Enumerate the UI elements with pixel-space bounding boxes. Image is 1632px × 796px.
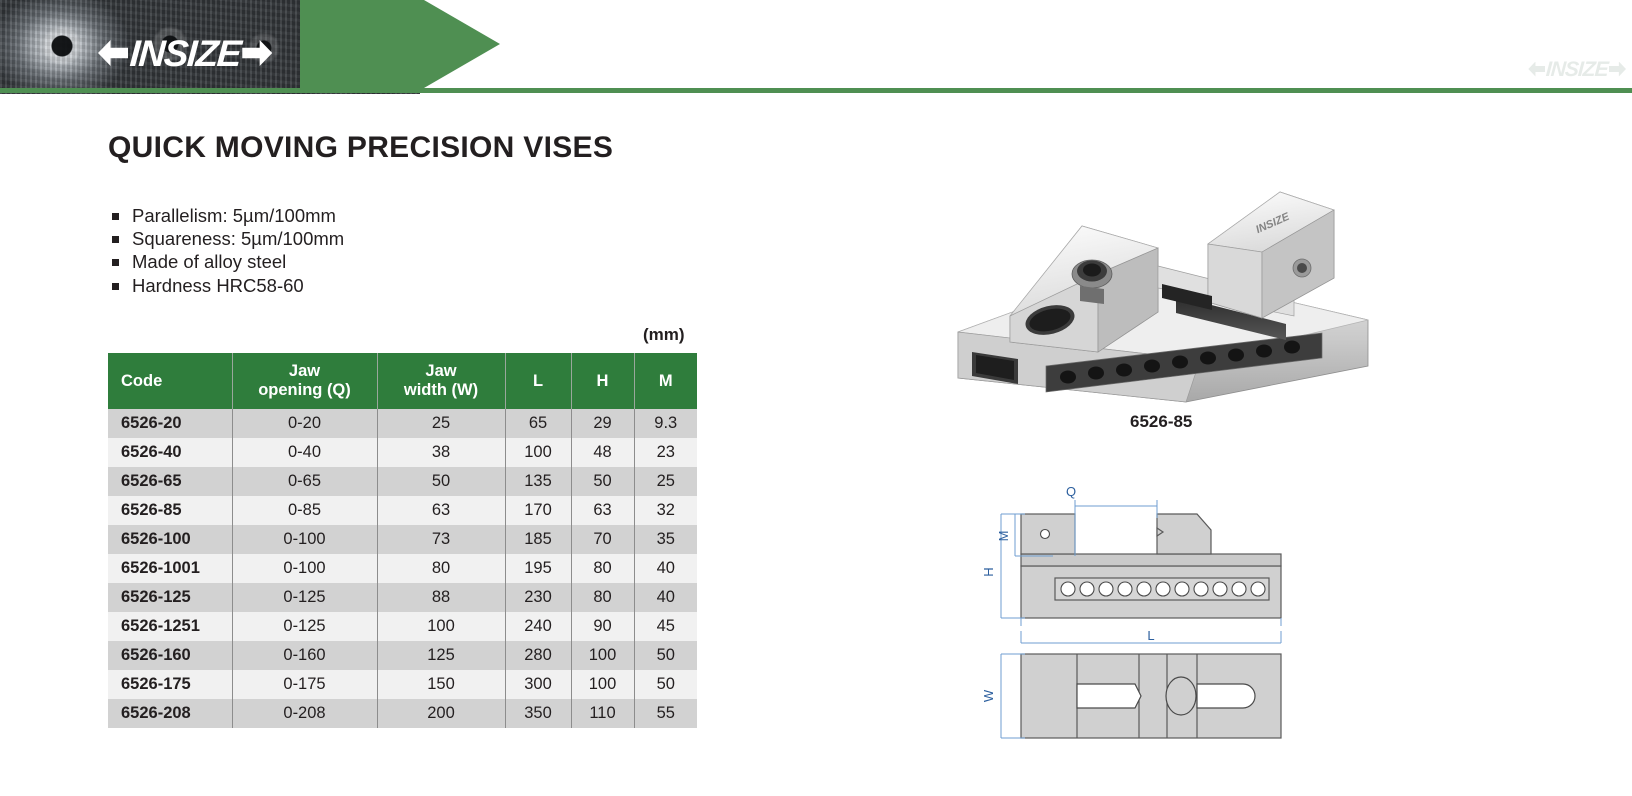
table-row: 6526-12510-1251002409045: [108, 612, 697, 641]
arrow-left-icon: [1528, 62, 1545, 77]
cell-l: 240: [505, 612, 571, 641]
column-header-jaw-width: Jaw width (W): [377, 353, 505, 409]
cell-h: 90: [571, 612, 634, 641]
feature-text: Squareness: 5µm/100mm: [132, 228, 344, 249]
cell-h: 110: [571, 699, 634, 728]
cell-h: 80: [571, 554, 634, 583]
cell-jaw-width: 63: [377, 496, 505, 525]
cell-jaw-opening: 0-100: [232, 525, 377, 554]
cell-h: 29: [571, 409, 634, 438]
bullet-square-icon: [112, 213, 119, 220]
insize-watermark-text: INSIZE: [1546, 59, 1609, 80]
cell-h: 100: [571, 641, 634, 670]
specification-table: Code Jaw opening (Q) Jaw width (W) L H M: [108, 353, 697, 728]
cell-m: 23: [634, 438, 697, 467]
cell-l: 135: [505, 467, 571, 496]
bullet-square-icon: [112, 283, 119, 290]
table-row: 6526-10010-100801958040: [108, 554, 697, 583]
arrow-right-icon: [1609, 62, 1626, 77]
cell-code: 6526-175: [108, 670, 232, 699]
cell-jaw-width: 88: [377, 583, 505, 612]
arrow-left-icon: [98, 40, 128, 66]
table-row: 6526-400-40381004823: [108, 438, 697, 467]
table-row: 6526-1000-100731857035: [108, 525, 697, 554]
header-green-chevron: [300, 0, 500, 88]
cell-m: 25: [634, 467, 697, 496]
cell-code: 6526-40: [108, 438, 232, 467]
cell-h: 50: [571, 467, 634, 496]
cell-jaw-width: 38: [377, 438, 505, 467]
list-item: Parallelism: 5µm/100mm: [110, 204, 344, 227]
cell-l: 100: [505, 438, 571, 467]
cell-l: 350: [505, 699, 571, 728]
column-header-jaw-opening: Jaw opening (Q): [232, 353, 377, 409]
dimension-label-m: M: [996, 531, 1011, 542]
cell-jaw-opening: 0-40: [232, 438, 377, 467]
cell-code: 6526-85: [108, 496, 232, 525]
list-item: Made of alloy steel: [110, 250, 344, 273]
column-header-code: Code: [108, 353, 232, 409]
page-title: QUICK MOVING PRECISION VISES: [108, 131, 613, 165]
dimension-label-w: W: [981, 689, 996, 702]
feature-list: Parallelism: 5µm/100mm Squareness: 5µm/1…: [110, 204, 344, 297]
cell-jaw-width: 80: [377, 554, 505, 583]
cell-code: 6526-208: [108, 699, 232, 728]
cell-m: 32: [634, 496, 697, 525]
dimension-label-q: Q: [1066, 484, 1076, 499]
cell-jaw-opening: 0-160: [232, 641, 377, 670]
bullet-square-icon: [112, 236, 119, 243]
column-header-l: L: [505, 353, 571, 409]
cell-code: 6526-1251: [108, 612, 232, 641]
table-body: 6526-200-202565299.36526-400-40381004823…: [108, 409, 697, 728]
cell-jaw-width: 25: [377, 409, 505, 438]
cell-h: 48: [571, 438, 634, 467]
cell-l: 280: [505, 641, 571, 670]
page-header: INSIZE INSIZE: [0, 0, 1632, 94]
feature-text: Made of alloy steel: [132, 251, 286, 272]
cell-jaw-width: 50: [377, 467, 505, 496]
cell-m: 55: [634, 699, 697, 728]
cell-jaw-opening: 0-208: [232, 699, 377, 728]
table-row: 6526-650-65501355025: [108, 467, 697, 496]
dimension-label-h: H: [981, 567, 996, 576]
table-row: 6526-1750-17515030010050: [108, 670, 697, 699]
cell-h: 70: [571, 525, 634, 554]
cell-jaw-opening: 0-20: [232, 409, 377, 438]
cell-jaw-opening: 0-65: [232, 467, 377, 496]
cell-jaw-opening: 0-100: [232, 554, 377, 583]
list-item: Squareness: 5µm/100mm: [110, 227, 344, 250]
cell-m: 9.3: [634, 409, 697, 438]
header-divider-rule: [0, 88, 1632, 93]
column-header-h: H: [571, 353, 634, 409]
feature-text: Hardness HRC58-60: [132, 275, 304, 296]
cell-jaw-width: 125: [377, 641, 505, 670]
vise-side-view-drawing: Q H M L: [975, 478, 1295, 626]
vise-top-view-drawing: W: [975, 640, 1295, 748]
cell-h: 63: [571, 496, 634, 525]
cell-code: 6526-100: [108, 525, 232, 554]
column-header-m: M: [634, 353, 697, 409]
insize-logo: INSIZE: [98, 34, 272, 72]
table-row: 6526-1250-125882308040: [108, 583, 697, 612]
cell-l: 185: [505, 525, 571, 554]
table-row: 6526-850-85631706332: [108, 496, 697, 525]
catalog-page: INSIZE INSIZE QUICK MOVING PRECISION VIS…: [0, 0, 1632, 796]
arrow-right-icon: [242, 40, 272, 66]
cell-jaw-opening: 0-85: [232, 496, 377, 525]
cell-jaw-opening: 0-175: [232, 670, 377, 699]
table-row: 6526-2080-20820035011055: [108, 699, 697, 728]
precision-vise-photo: INSIZE: [950, 170, 1370, 405]
feature-text: Parallelism: 5µm/100mm: [132, 205, 336, 226]
units-label: (mm): [643, 325, 685, 345]
cell-l: 195: [505, 554, 571, 583]
cell-l: 300: [505, 670, 571, 699]
product-caption: 6526-85: [1130, 412, 1192, 432]
cell-jaw-width: 150: [377, 670, 505, 699]
insize-logo-text: INSIZE: [129, 35, 242, 72]
cell-jaw-width: 100: [377, 612, 505, 641]
cell-m: 40: [634, 583, 697, 612]
cell-jaw-opening: 0-125: [232, 583, 377, 612]
cell-code: 6526-1001: [108, 554, 232, 583]
cell-m: 50: [634, 670, 697, 699]
list-item: Hardness HRC58-60: [110, 274, 344, 297]
insize-logo-watermark: INSIZE: [1528, 56, 1626, 82]
cell-jaw-width: 200: [377, 699, 505, 728]
bullet-square-icon: [112, 259, 119, 266]
cell-m: 50: [634, 641, 697, 670]
cell-m: 35: [634, 525, 697, 554]
cell-l: 65: [505, 409, 571, 438]
table-row: 6526-1600-16012528010050: [108, 641, 697, 670]
cell-m: 45: [634, 612, 697, 641]
cell-l: 170: [505, 496, 571, 525]
cell-code: 6526-125: [108, 583, 232, 612]
cell-code: 6526-20: [108, 409, 232, 438]
cell-m: 40: [634, 554, 697, 583]
cell-h: 100: [571, 670, 634, 699]
table-row: 6526-200-202565299.3: [108, 409, 697, 438]
cell-code: 6526-65: [108, 467, 232, 496]
cell-l: 230: [505, 583, 571, 612]
table-header-row: Code Jaw opening (Q) Jaw width (W) L H M: [108, 353, 697, 409]
cell-jaw-width: 73: [377, 525, 505, 554]
table-header: Code Jaw opening (Q) Jaw width (W) L H M: [108, 353, 697, 409]
cell-h: 80: [571, 583, 634, 612]
cell-code: 6526-160: [108, 641, 232, 670]
cell-jaw-opening: 0-125: [232, 612, 377, 641]
